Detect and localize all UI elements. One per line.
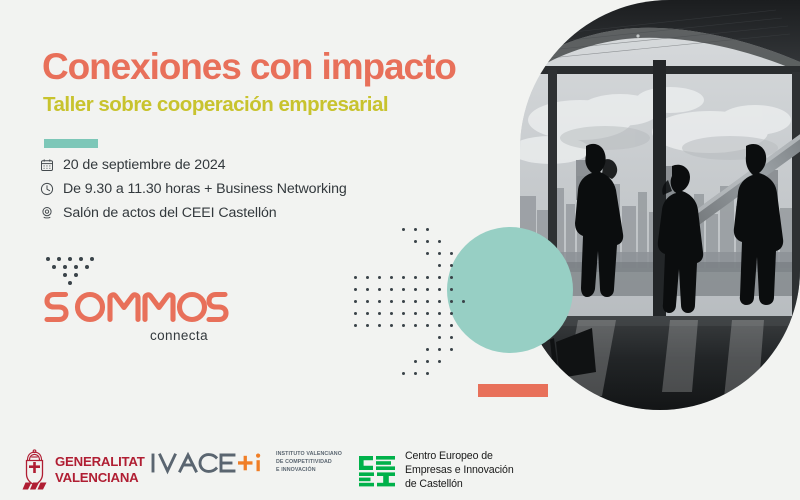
ivace-logo: INSTITUTO VALENCIANO DE COMPETITIVIDAD E… <box>150 450 342 476</box>
teal-accent-bar <box>44 139 98 148</box>
poster-title: Conexiones con impacto <box>42 46 456 88</box>
footer-logos: GENERALITAT VALENCIANA <box>0 440 620 500</box>
sommos-tagline: connecta <box>150 328 208 343</box>
ivace-line-3: E INNOVACIÓN <box>276 467 342 475</box>
ivace-line-2: DE COMPETITIVIDAD <box>276 459 342 467</box>
ivace-subtitle-text: INSTITUTO VALENCIANO DE COMPETITIVIDAD E… <box>276 451 342 474</box>
dot-grid-arrow-decoration <box>352 226 532 366</box>
ceei-mark-icon <box>358 453 396 489</box>
event-details-list: 20 de septiembre de 2024 De 9.30 a 11.30… <box>40 155 347 222</box>
detail-row-date: 20 de septiembre de 2024 <box>40 155 347 174</box>
detail-text-date: 20 de septiembre de 2024 <box>63 157 225 173</box>
location-pin-icon <box>40 206 54 220</box>
sommos-dot-triangle-icon <box>42 255 112 288</box>
generalitat-valenciana-text: GENERALITAT VALENCIANA <box>55 454 145 485</box>
ivace-wordmark-icon <box>150 450 268 476</box>
generalitat-valenciana-logo: GENERALITAT VALENCIANA <box>22 449 145 491</box>
detail-text-time: De 9.30 a 11.30 horas + Business Network… <box>63 181 347 197</box>
gva-line-2: VALENCIANA <box>55 470 145 486</box>
gva-line-1: GENERALITAT <box>55 454 145 470</box>
ceei-line-1: Centro Europeo de <box>405 450 514 464</box>
event-poster: Conexiones con impacto Taller sobre coop… <box>0 0 800 500</box>
ceei-subtitle-text: Centro Europeo de Empresas e Innovación … <box>405 450 514 492</box>
detail-text-location: Salón de actos del CEEI Castellón <box>63 205 277 221</box>
sommos-logo: connecta <box>40 255 235 345</box>
ivace-line-1: INSTITUTO VALENCIANO <box>276 451 342 459</box>
ceei-line-2: Empresas e Innovación <box>405 464 514 478</box>
sommos-wordmark <box>40 287 230 325</box>
poster-subtitle: Taller sobre cooperación empresarial <box>43 93 388 117</box>
generalitat-crest-icon <box>22 449 48 491</box>
photo-business-people-silhouettes <box>520 0 800 410</box>
ceei-castellon-logo: Centro Europeo de Empresas e Innovación … <box>358 450 514 492</box>
ceei-line-3: de Castellón <box>405 478 514 492</box>
orange-bar-decoration <box>478 384 548 397</box>
detail-row-time: De 9.30 a 11.30 horas + Business Network… <box>40 179 347 198</box>
clock-icon <box>40 182 54 196</box>
photo-container <box>520 0 800 410</box>
detail-row-location: Salón de actos del CEEI Castellón <box>40 203 347 222</box>
calendar-icon <box>40 158 54 172</box>
